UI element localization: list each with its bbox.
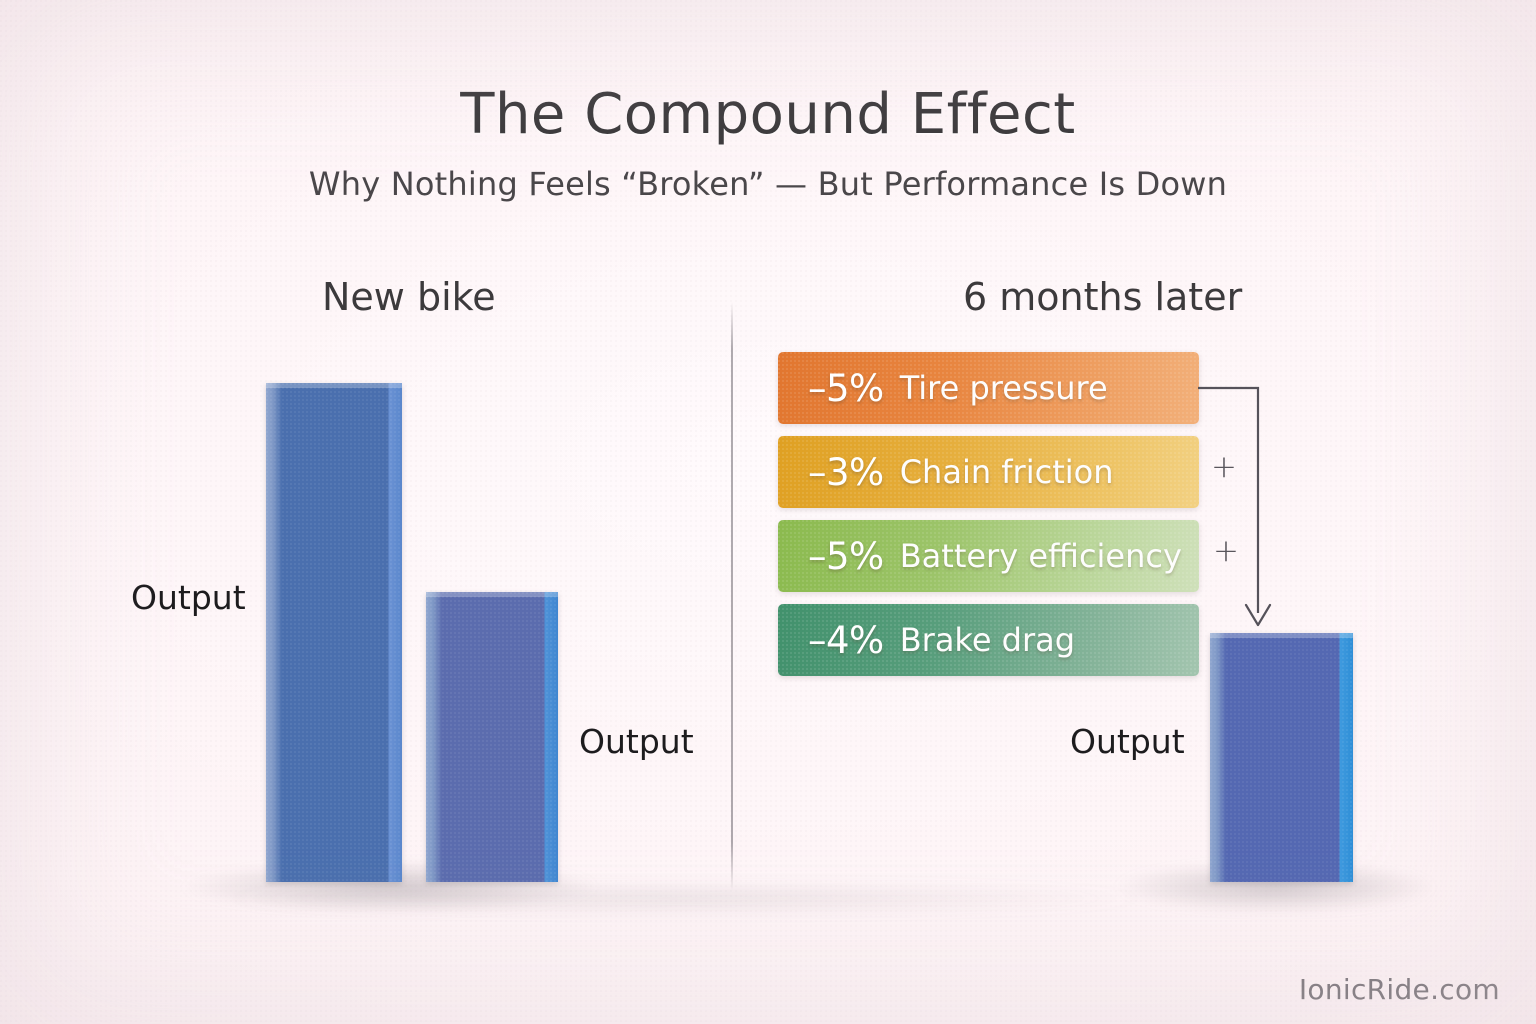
loss-label: Chain friction — [900, 453, 1114, 491]
bar-mid-output — [426, 592, 558, 882]
loss-label: Tire pressure — [900, 369, 1108, 407]
output-label-new-bike: Output — [131, 578, 246, 617]
bar-top-face — [266, 383, 402, 388]
loss-percent: –5% — [808, 367, 884, 410]
panel-divider — [731, 302, 733, 890]
loss-label: Brake drag — [900, 621, 1075, 659]
loss-factor-list: –5% Tire pressure –3% Chain friction –5%… — [778, 352, 1199, 688]
loss-percent: –3% — [808, 451, 884, 494]
output-label-six-months: Output — [1070, 722, 1185, 761]
loss-label: Battery efficiency — [900, 537, 1182, 575]
panel-heading-new-bike: New bike — [322, 275, 496, 319]
panel-heading-six-months-later: 6 months later — [963, 275, 1242, 319]
loss-row-battery-efficiency[interactable]: –5% Battery efficiency — [778, 520, 1199, 592]
loss-row-brake-drag[interactable]: –4% Brake drag — [778, 604, 1199, 676]
page-subtitle: Why Nothing Feels “Broken” — But Perform… — [0, 165, 1536, 203]
watermark: IonicRide.com — [1299, 973, 1500, 1006]
bar-six-months-output — [1210, 633, 1353, 882]
loss-percent: –4% — [808, 619, 884, 662]
page-title: The Compound Effect — [0, 82, 1536, 147]
loss-row-tire-pressure[interactable]: –5% Tire pressure — [778, 352, 1199, 424]
compound-arrow-icon — [1190, 375, 1300, 640]
loss-percent: –5% — [808, 535, 884, 578]
output-label-mid: Output — [579, 722, 694, 761]
loss-row-chain-friction[interactable]: –3% Chain friction — [778, 436, 1199, 508]
bar-new-bike-output — [266, 383, 402, 882]
bar-top-face — [426, 592, 558, 597]
